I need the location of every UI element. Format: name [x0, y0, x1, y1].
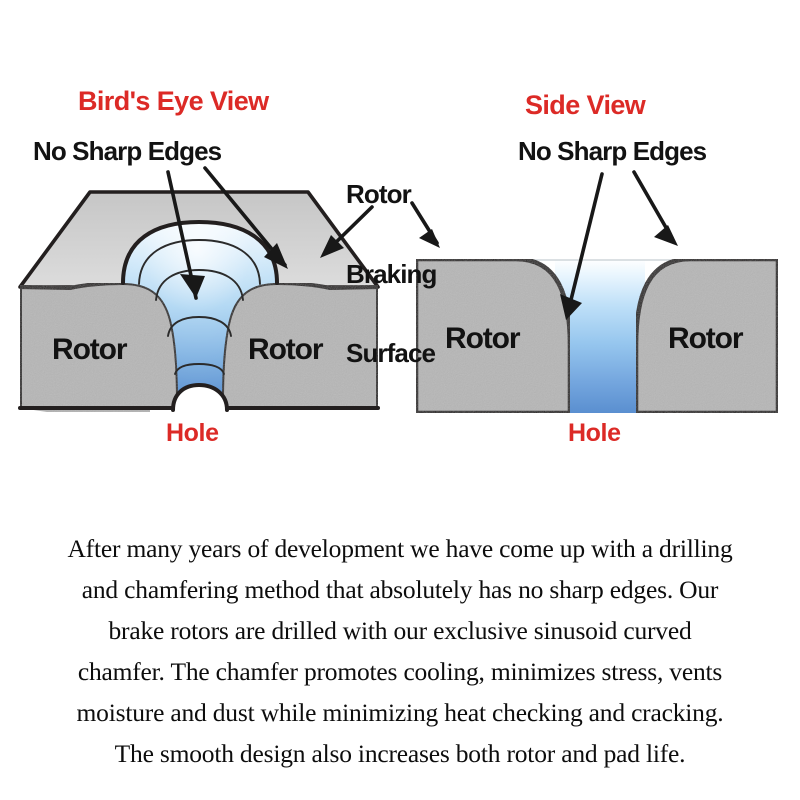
paragraph-line: After many years of development we have …: [8, 528, 792, 569]
birds-eye-view-title: Bird's Eye View: [78, 88, 269, 116]
label-rotor-right-1: Rotor: [445, 322, 519, 356]
label-rotor-left-1: Rotor: [52, 333, 126, 367]
paragraph-line: moisture and dust while minimizing heat …: [8, 692, 792, 733]
label-no-sharp-edges-left: No Sharp Edges: [33, 138, 221, 165]
paragraph-line: brake rotors are drilled with our exclus…: [8, 610, 792, 651]
label-hole-right: Hole: [568, 421, 621, 447]
side-view-title: Side View: [525, 92, 645, 120]
paragraph-line: chamfer. The chamfer promotes cooling, m…: [8, 651, 792, 692]
label-rotor-braking-surface-line2: Braking: [346, 261, 437, 288]
label-rotor-right-2: Rotor: [668, 322, 742, 356]
rotor-chamfer-infographic: Bird's Eye View No Sharp Edges Rotor Bra…: [0, 0, 800, 800]
paragraph-line: The smooth design also increases both ro…: [8, 733, 792, 774]
paragraph-line: and chamfering method that absolutely ha…: [8, 569, 792, 610]
arrow-side-no-sharp-edges-2: [634, 172, 678, 246]
label-rotor-braking-surface-line3: Surface: [346, 340, 437, 367]
label-rotor-braking-surface-line1: Rotor: [346, 181, 437, 208]
label-rotor-left-2: Rotor: [248, 333, 322, 367]
label-rotor-braking-surface: Rotor Braking Surface: [346, 128, 437, 420]
description-paragraph: After many years of development we have …: [8, 528, 792, 774]
label-no-sharp-edges-right: No Sharp Edges: [518, 138, 706, 165]
label-hole-left: Hole: [166, 421, 219, 447]
